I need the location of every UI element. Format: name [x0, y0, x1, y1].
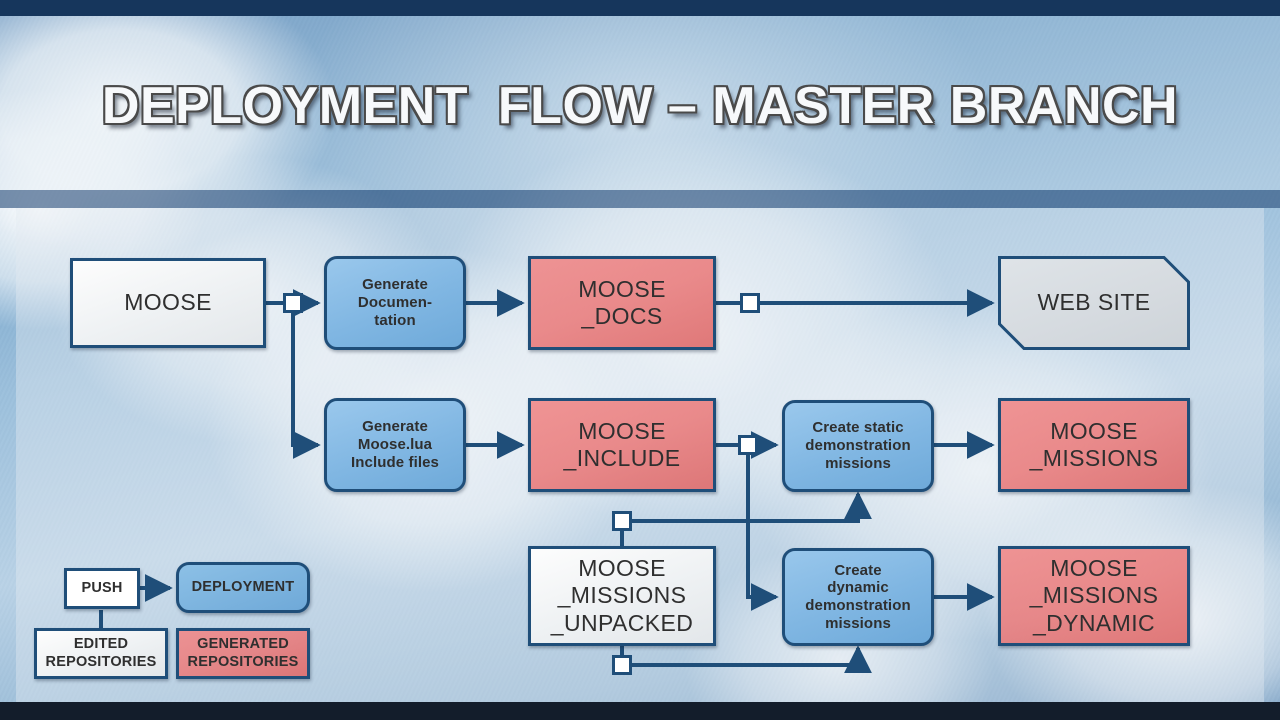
- legend-edited-repositories[interactable]: EDITED REPOSITORIES: [34, 628, 168, 679]
- node-generate-include[interactable]: Generate Moose.lua Include files: [324, 398, 466, 492]
- legend-deployment[interactable]: DEPLOYMENT: [176, 562, 310, 613]
- legend-push[interactable]: PUSH: [64, 568, 140, 609]
- node-moose-docs-label: MOOSE _DOCS: [531, 276, 713, 330]
- node-web-site[interactable]: WEB SITE: [998, 256, 1190, 350]
- bottom-accent-bar: [0, 702, 1280, 720]
- junction-unpacked-static: [612, 511, 632, 531]
- node-moose-missions-dynamic-label: MOOSE _MISSIONS _DYNAMIC: [1001, 555, 1187, 636]
- page-title: DEPLOYMENT FLOW – MASTER BRANCH: [0, 76, 1280, 136]
- node-moose-docs[interactable]: MOOSE _DOCS: [528, 256, 716, 350]
- legend-deployment-label: DEPLOYMENT: [179, 579, 307, 596]
- node-create-dynamic-missions[interactable]: Create dynamic demonstration missions: [782, 548, 934, 646]
- junction-moose-split: [283, 293, 303, 313]
- title-divider-band: [0, 190, 1280, 208]
- node-moose-missions-unpacked-label: MOOSE _MISSIONS _UNPACKED: [531, 555, 713, 636]
- legend-generated-repositories-label: GENERATED REPOSITORIES: [179, 636, 307, 670]
- junction-docs-website: [740, 293, 760, 313]
- node-create-static-missions[interactable]: Create static demonstration missions: [782, 400, 934, 492]
- node-moose-label: MOOSE: [73, 289, 263, 316]
- node-create-dynamic-missions-label: Create dynamic demonstration missions: [785, 562, 931, 633]
- node-create-static-missions-label: Create static demonstration missions: [785, 419, 931, 472]
- node-generate-documentation[interactable]: Generate Documen- tation: [324, 256, 466, 350]
- legend-generated-repositories[interactable]: GENERATED REPOSITORIES: [176, 628, 310, 679]
- node-moose-missions-label: MOOSE _MISSIONS: [1001, 418, 1187, 472]
- node-moose-missions[interactable]: MOOSE _MISSIONS: [998, 398, 1190, 492]
- junction-include-split: [738, 435, 758, 455]
- legend-push-label: PUSH: [67, 580, 137, 597]
- junction-unpacked-dynamic: [612, 655, 632, 675]
- node-moose-include[interactable]: MOOSE _INCLUDE: [528, 398, 716, 492]
- node-generate-include-label: Generate Moose.lua Include files: [327, 418, 463, 471]
- slide-stage: DEPLOYMENT FLOW – MASTER BRANCH: [0, 0, 1280, 720]
- node-moose-missions-dynamic[interactable]: MOOSE _MISSIONS _DYNAMIC: [998, 546, 1190, 646]
- node-moose[interactable]: MOOSE: [70, 258, 266, 348]
- node-moose-missions-unpacked[interactable]: MOOSE _MISSIONS _UNPACKED: [528, 546, 716, 646]
- node-web-site-label: WEB SITE: [998, 289, 1190, 316]
- legend-edited-repositories-label: EDITED REPOSITORIES: [37, 636, 165, 670]
- node-generate-documentation-label: Generate Documen- tation: [327, 276, 463, 329]
- top-accent-bar: [0, 0, 1280, 16]
- node-moose-include-label: MOOSE _INCLUDE: [531, 418, 713, 472]
